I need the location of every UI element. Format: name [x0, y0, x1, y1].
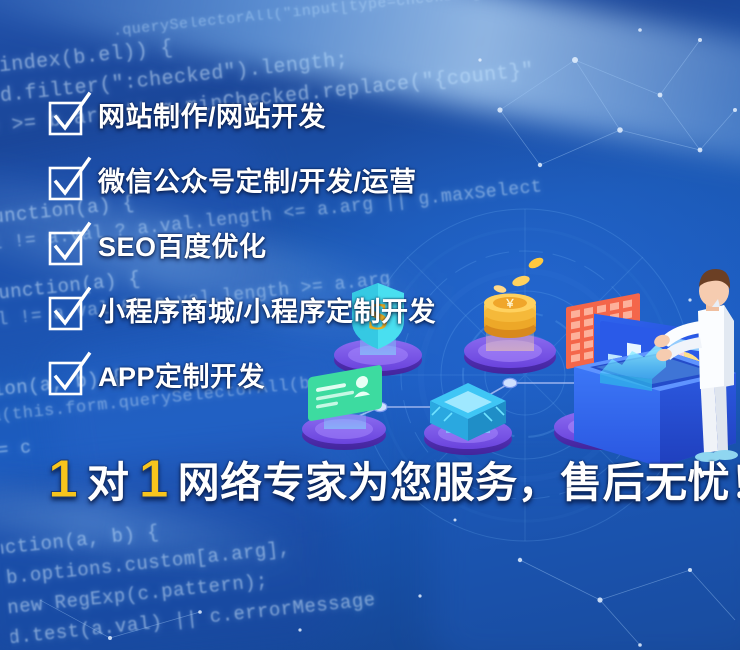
service-item[interactable]: APP定制开发	[50, 356, 690, 398]
checked-box-icon[interactable]	[50, 231, 82, 263]
service-item-label: SEO百度优化	[98, 234, 267, 261]
headline-tail: 网络专家为您服务，售后无忧！	[178, 462, 740, 504]
service-item[interactable]: 微信公众号定制/开发/运营	[50, 161, 690, 203]
service-item[interactable]: 网站制作/网站开发	[50, 96, 690, 138]
service-item-label: APP定制开发	[98, 364, 265, 391]
service-item-label: 小程序商城/小程序定制开发	[98, 299, 436, 326]
headline-mid: 对	[87, 462, 130, 504]
service-item-label: 网站制作/网站开发	[98, 104, 326, 131]
checked-box-icon[interactable]	[50, 101, 82, 133]
service-item[interactable]: SEO百度优化	[50, 226, 690, 268]
headline: 1 对 1 网络专家为您服务，售后无忧！	[48, 452, 740, 506]
service-item-label: 微信公众号定制/开发/运营	[98, 169, 417, 196]
service-list: 网站制作/网站开发 微信公众号定制/开发/运营 SEO百度优化	[50, 96, 690, 398]
checked-box-icon[interactable]	[50, 166, 82, 198]
checked-box-icon[interactable]	[50, 296, 82, 328]
headline-number-second: 1	[139, 452, 169, 506]
headline-number-first: 1	[48, 452, 78, 506]
service-item[interactable]: 小程序商城/小程序定制开发	[50, 291, 690, 333]
checked-box-icon[interactable]	[50, 361, 82, 393]
promo-banner: .querySelectorAll("input[type=checkbox]"…	[0, 0, 740, 650]
